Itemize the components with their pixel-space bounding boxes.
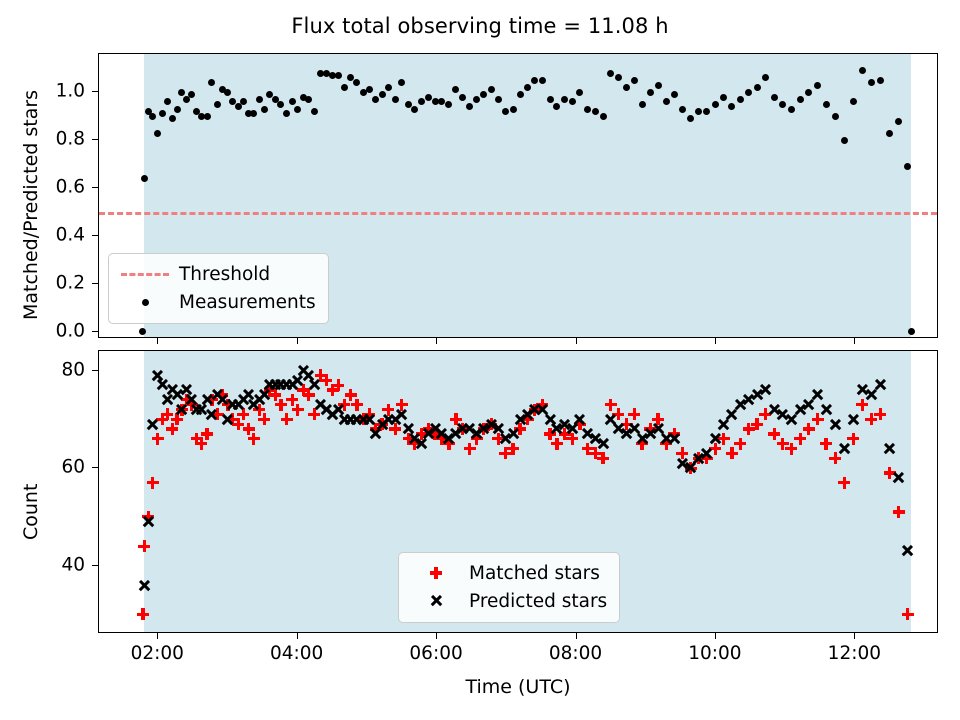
data-point-dot bbox=[788, 106, 795, 113]
data-point-dot bbox=[877, 77, 884, 84]
data-point-dot bbox=[539, 77, 546, 84]
x-tick-label: 04:00 bbox=[270, 643, 323, 664]
data-point-dot bbox=[517, 91, 524, 98]
data-point-dot bbox=[592, 108, 599, 115]
y-tick-label: 80 bbox=[0, 359, 85, 380]
data-point-dot bbox=[745, 89, 752, 96]
y-tick-mark bbox=[92, 565, 98, 566]
data-point-dot bbox=[459, 94, 466, 101]
data-point-dot bbox=[797, 96, 804, 103]
x-tick-mark bbox=[297, 633, 298, 639]
y-tick-label: 40 bbox=[0, 554, 85, 575]
data-point-dot bbox=[886, 130, 893, 137]
legend-label-measurements: Measurements bbox=[173, 292, 316, 313]
data-point-dot bbox=[695, 108, 702, 115]
threshold-line-icon bbox=[119, 262, 173, 286]
data-point-dot bbox=[174, 106, 181, 113]
data-point-dot bbox=[679, 106, 686, 113]
data-point-dot bbox=[823, 101, 830, 108]
x-tick-label: 02:00 bbox=[131, 643, 184, 664]
data-point-dot bbox=[341, 84, 348, 91]
figure-root: Flux total observing time = 11.08 h 0.00… bbox=[0, 0, 960, 720]
data-point-dot bbox=[411, 106, 418, 113]
threshold-line bbox=[99, 212, 937, 215]
data-point-dot bbox=[169, 115, 176, 122]
legend-label-matched-stars: Matched stars bbox=[463, 563, 600, 584]
data-point-dot bbox=[737, 96, 744, 103]
page-title: Flux total observing time = 11.08 h bbox=[0, 14, 960, 38]
y-tick-mark bbox=[92, 235, 98, 236]
y-tick-mark bbox=[92, 467, 98, 468]
y-tick-mark bbox=[92, 91, 98, 92]
x-axis-label: Time (UTC) bbox=[98, 676, 938, 698]
data-point-dot bbox=[256, 96, 263, 103]
data-point-dot bbox=[141, 175, 148, 182]
data-point-dot bbox=[771, 94, 778, 101]
x-tick-mark bbox=[297, 338, 298, 344]
y-tick-label: 0.6 bbox=[0, 177, 85, 198]
y-tick-label: 0.8 bbox=[0, 129, 85, 150]
ratio-panel-y-axis-label: Matched/Predicted stars bbox=[20, 90, 42, 320]
x-tick-mark bbox=[436, 338, 437, 344]
data-point-dot bbox=[671, 91, 678, 98]
x-tick-label: 10:00 bbox=[688, 643, 741, 664]
legend-item-matched-stars: Matched stars bbox=[409, 559, 607, 587]
y-tick-mark bbox=[92, 331, 98, 332]
y-tick-label: 0.4 bbox=[0, 225, 85, 246]
data-point-dot bbox=[841, 137, 848, 144]
data-point-dot bbox=[639, 101, 646, 108]
x-tick-mark bbox=[576, 338, 577, 344]
y-tick-mark bbox=[92, 370, 98, 371]
y-tick-label: 0.2 bbox=[0, 272, 85, 293]
y-tick-label: 0.0 bbox=[0, 320, 85, 341]
plus-marker-icon bbox=[409, 561, 463, 585]
data-point-dot bbox=[154, 130, 161, 137]
data-point-dot bbox=[814, 82, 821, 89]
ratio-panel-legend: Threshold Measurements bbox=[108, 253, 329, 324]
legend-item-measurements: Measurements bbox=[119, 288, 316, 316]
x-tick-mark bbox=[715, 338, 716, 344]
y-tick-mark bbox=[92, 139, 98, 140]
data-point-dot bbox=[214, 101, 221, 108]
data-point-dot bbox=[502, 108, 509, 115]
data-point-dot bbox=[754, 84, 761, 91]
x-tick-mark bbox=[436, 633, 437, 639]
data-point-dot bbox=[531, 77, 538, 84]
data-point-dot bbox=[335, 72, 342, 79]
data-point-dot bbox=[647, 89, 654, 96]
x-tick-mark bbox=[157, 633, 158, 639]
data-point-dot bbox=[607, 70, 614, 77]
legend-item-threshold: Threshold bbox=[119, 260, 316, 288]
data-point-dot bbox=[392, 96, 399, 103]
data-point-dot bbox=[584, 106, 591, 113]
data-point-dot bbox=[432, 98, 439, 105]
x-tick-label: 06:00 bbox=[409, 643, 462, 664]
data-point-dot bbox=[547, 96, 554, 103]
count-panel-y-axis-label: Count bbox=[20, 484, 42, 540]
x-tick-label: 12:00 bbox=[828, 643, 881, 664]
cross-marker-icon bbox=[409, 589, 463, 613]
legend-label-predicted-stars: Predicted stars bbox=[463, 591, 607, 612]
data-point-dot bbox=[805, 89, 812, 96]
x-tick-mark bbox=[157, 338, 158, 344]
data-point-dot bbox=[261, 106, 268, 113]
data-point-dot bbox=[385, 84, 392, 91]
data-point-dot bbox=[631, 77, 638, 84]
y-tick-mark bbox=[92, 187, 98, 188]
data-point-dot bbox=[712, 101, 719, 108]
data-point-dot bbox=[720, 94, 727, 101]
data-point-dot bbox=[289, 98, 296, 105]
data-point-dot bbox=[655, 82, 662, 89]
x-tick-mark bbox=[854, 633, 855, 639]
data-point-dot bbox=[311, 108, 318, 115]
x-tick-mark bbox=[854, 338, 855, 344]
x-tick-mark bbox=[715, 633, 716, 639]
data-point-dot bbox=[895, 118, 902, 125]
measurement-dot-icon bbox=[119, 290, 173, 314]
data-point-dot bbox=[510, 106, 517, 113]
data-point-dot bbox=[495, 96, 502, 103]
data-point-dot bbox=[600, 113, 607, 120]
y-tick-label: 1.0 bbox=[0, 81, 85, 102]
data-point-dot bbox=[294, 106, 301, 113]
x-tick-mark bbox=[576, 633, 577, 639]
x-tick-label: 08:00 bbox=[549, 643, 602, 664]
data-point-dot bbox=[204, 113, 211, 120]
legend-label-threshold: Threshold bbox=[173, 264, 270, 285]
data-point-dot bbox=[908, 328, 915, 335]
data-point-dot bbox=[379, 91, 386, 98]
legend-item-predicted-stars: Predicted stars bbox=[409, 587, 607, 615]
count-panel-legend: Matched stars Predicted stars bbox=[398, 552, 620, 623]
y-tick-label: 60 bbox=[0, 457, 85, 478]
data-point-dot bbox=[832, 113, 839, 120]
y-tick-mark bbox=[92, 283, 98, 284]
data-point-dot bbox=[149, 113, 156, 120]
